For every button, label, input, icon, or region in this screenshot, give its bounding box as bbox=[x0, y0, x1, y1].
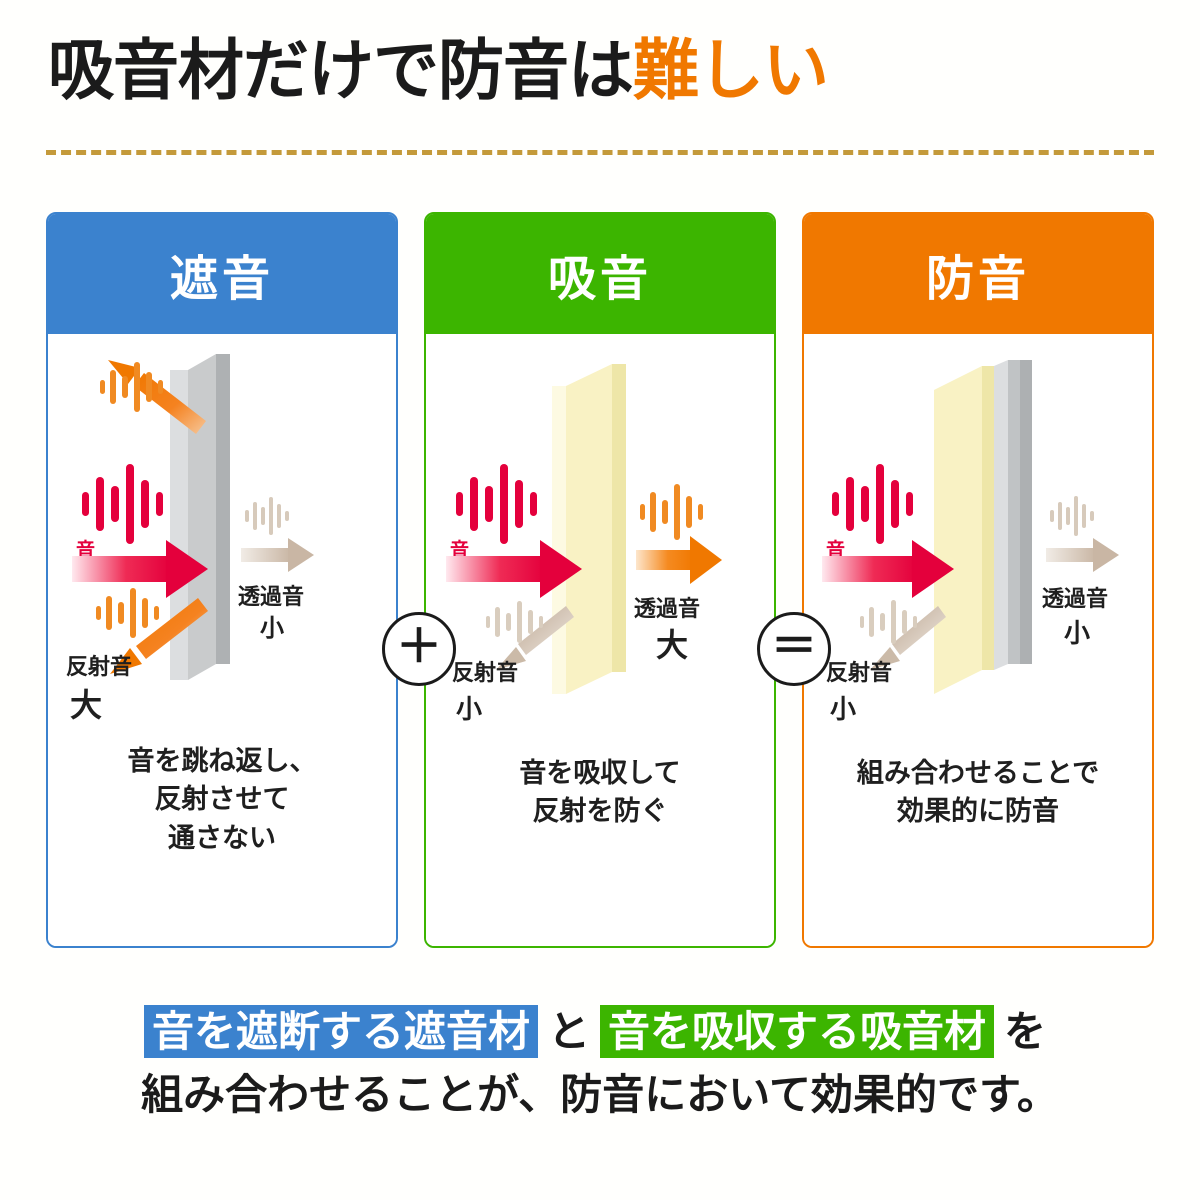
label-reflected-kyuon: 反射音 bbox=[452, 660, 518, 685]
label-transmitted-shaon: 透過音 bbox=[238, 584, 304, 609]
card-kyuon-caption: 音を吸収して 反射を防ぐ bbox=[426, 754, 774, 831]
equals-glyph: ＝ bbox=[771, 623, 817, 669]
card-bouon-body: 音 bbox=[804, 334, 1152, 948]
connector-plus-icon: ＋ bbox=[382, 612, 456, 686]
wave-source-kyuon bbox=[456, 464, 537, 544]
label-transmitted-level-bouon: 小 bbox=[1064, 618, 1090, 648]
wave-transmitted-bouon bbox=[1050, 496, 1094, 536]
card-shaon-body: 音 bbox=[48, 334, 396, 948]
diagram-shaon: 音 bbox=[48, 334, 396, 764]
label-transmitted-bouon: 透過音 bbox=[1042, 586, 1108, 611]
card-kyuon-header: 吸音 bbox=[426, 214, 774, 334]
label-reflected-level-kyuon: 小 bbox=[456, 694, 482, 724]
infographic-page: 吸音材だけで防音は難しい 遮音 bbox=[0, 0, 1200, 1200]
caption-line: 反射させて bbox=[48, 780, 396, 818]
title-divider bbox=[46, 150, 1154, 155]
caption-line: 通さない bbox=[48, 819, 396, 857]
caption-line: 音を跳ね返し、 bbox=[48, 742, 396, 780]
footer-line-1: 音を遮断する遮音材と音を吸収する吸音材を bbox=[0, 1000, 1200, 1063]
label-transmitted-kyuon: 透過音 bbox=[634, 596, 700, 621]
panel-absorber-yellow bbox=[552, 364, 626, 694]
wave-source bbox=[82, 464, 163, 544]
page-title: 吸音材だけで防音は難しい bbox=[48, 34, 828, 107]
label-transmitted-level-shaon: 小 bbox=[260, 615, 284, 642]
page-title-main: 吸音材だけで防音は bbox=[48, 33, 633, 107]
arrow-transmitted-shaon bbox=[241, 538, 314, 572]
wave-transmitted-shaon bbox=[245, 497, 289, 535]
wave-reflected-down bbox=[96, 588, 159, 638]
card-bouon-header: 防音 bbox=[804, 214, 1152, 334]
caption-line: 効果的に防音 bbox=[804, 792, 1152, 830]
comparison-cards: 遮音 bbox=[46, 212, 1154, 950]
connector-equals-icon: ＝ bbox=[757, 612, 831, 686]
label-reflected-shaon: 反射音 bbox=[66, 654, 132, 679]
caption-line: 組み合わせることで bbox=[804, 754, 1152, 792]
panel-combined bbox=[934, 360, 1032, 694]
footer-highlight-shaon: 音を遮断する遮音材 bbox=[144, 1005, 538, 1058]
card-shaon: 遮音 bbox=[46, 212, 398, 948]
caption-line: 音を吸収して bbox=[426, 754, 774, 792]
footer-line-2: 組み合わせることが、防音において効果的です。 bbox=[0, 1063, 1200, 1126]
label-reflected-level-shaon: 大 bbox=[70, 687, 102, 723]
card-kyuon-body: 音 bbox=[426, 334, 774, 948]
wave-source-bouon bbox=[832, 464, 913, 544]
label-reflected-bouon: 反射音 bbox=[826, 660, 892, 685]
diagram-bouon: 音 bbox=[804, 334, 1152, 764]
arrow-transmitted-bouon bbox=[1046, 538, 1119, 572]
footer-conjunction: と bbox=[538, 1008, 600, 1055]
caption-line: 反射を防ぐ bbox=[426, 792, 774, 830]
card-shaon-header: 遮音 bbox=[48, 214, 396, 334]
label-reflected-level-bouon: 小 bbox=[830, 694, 856, 724]
footer-summary: 音を遮断する遮音材と音を吸収する吸音材を 組み合わせることが、防音において効果的… bbox=[0, 1000, 1200, 1126]
diagram-kyuon: 音 bbox=[426, 334, 774, 764]
wave-transmitted-kyuon bbox=[640, 484, 703, 540]
page-title-accent: 難しい bbox=[633, 33, 828, 107]
card-bouon-caption: 組み合わせることで 効果的に防音 bbox=[804, 754, 1152, 831]
card-bouon: 防音 bbox=[802, 212, 1154, 948]
arrow-transmitted-kyuon bbox=[636, 536, 722, 584]
footer-highlight-kyuon: 音を吸収する吸音材 bbox=[600, 1005, 994, 1058]
plus-glyph: ＋ bbox=[396, 623, 442, 669]
card-shaon-caption: 音を跳ね返し、 反射させて 通さない bbox=[48, 742, 396, 857]
footer-particle: を bbox=[994, 1008, 1056, 1055]
label-transmitted-level-kyuon: 大 bbox=[656, 627, 688, 663]
card-kyuon: 吸音 bbox=[424, 212, 776, 948]
